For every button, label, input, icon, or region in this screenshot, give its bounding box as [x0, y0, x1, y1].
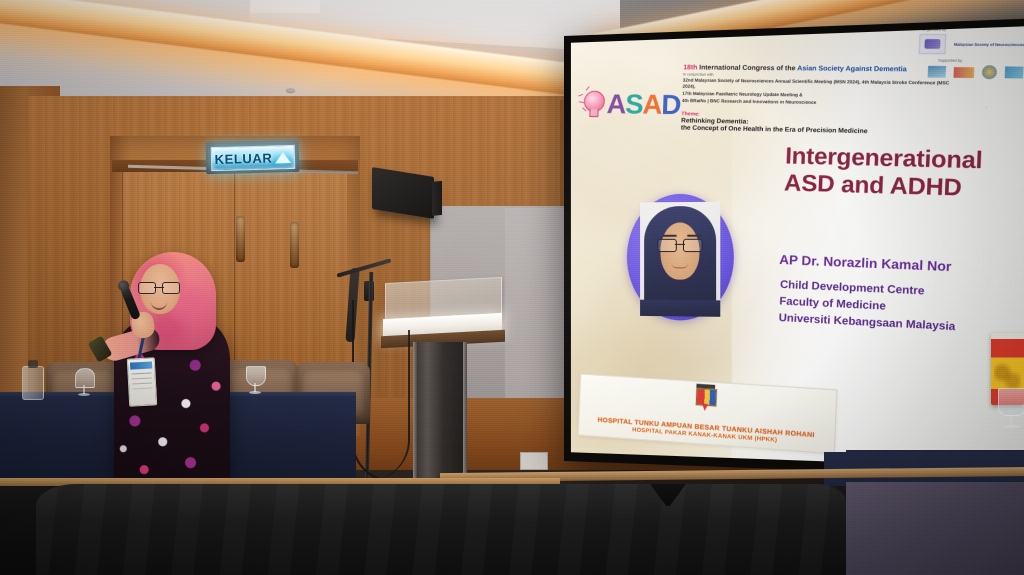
lectern-column-edge-right	[463, 342, 467, 480]
asad-letter-a1: A	[606, 88, 626, 118]
asad-wordmark: ASAD	[606, 90, 681, 118]
stage-skirt-drape	[36, 484, 846, 575]
presentation-photo-scene: KELUAR ASAD 18th Internati	[0, 0, 1024, 575]
brain-lightbulb-icon	[581, 89, 606, 119]
congress-line: International Congress of the	[699, 64, 796, 72]
exit-sign-label: KELUAR	[214, 150, 272, 167]
presenter-name-badge	[127, 357, 157, 406]
msn-logo-icon	[919, 34, 947, 54]
supported-by-label: Supported by	[845, 58, 1024, 64]
projection-screen: ASAD 18th International Congress of the …	[564, 18, 1024, 479]
asad-letter-a2: A	[642, 89, 662, 120]
presenter	[96, 246, 246, 494]
supporter-row	[844, 64, 1024, 79]
speaker-portrait-photo	[640, 202, 720, 317]
mic-cable-secondary	[370, 330, 410, 480]
sponsor-strip: Organised by Malaysian Society of Neuros…	[844, 27, 1024, 79]
organiser-row: Malaysian Society of Neurosciences	[845, 34, 1024, 55]
presenter-glasses-icon	[138, 282, 180, 292]
slide-title: Intergenerational ASD and ADHD	[784, 143, 1024, 205]
lectern-column	[417, 342, 465, 480]
exit-arrow-icon	[275, 151, 291, 162]
tourism-malaysia-logo-icon	[928, 66, 946, 78]
wall-power-socket	[520, 452, 548, 470]
drinking-glass	[75, 368, 93, 398]
door-handle-right[interactable]	[290, 222, 299, 268]
ceiling-air-vent	[250, 0, 320, 13]
portrait-glasses-icon	[657, 239, 702, 250]
malaysia-truly-asia-logo-icon	[954, 67, 975, 78]
exit-sign: KELUAR	[211, 145, 296, 171]
asad-letter-d: D	[661, 89, 681, 120]
asad-logo: ASAD	[581, 89, 681, 121]
congress-edition: 18th	[683, 64, 697, 71]
floor-carpet	[846, 482, 1024, 575]
asad-letter-s: S	[625, 89, 643, 120]
wine-glass-inverted	[998, 388, 1024, 432]
lectern-column-edge-left	[413, 342, 417, 480]
visit-malaysia-2026-logo-icon	[1005, 66, 1024, 78]
presentation-slide: ASAD 18th International Congress of the …	[571, 26, 1024, 468]
ministry-crest-logo-icon	[982, 65, 997, 79]
water-jug	[22, 366, 44, 400]
wine-glass-inverted	[246, 366, 264, 396]
hospital-crest-icon	[693, 384, 717, 412]
smoke-detector-icon	[286, 88, 295, 92]
organised-by-label: Organised by	[846, 27, 1024, 32]
speaker-portrait-ring	[627, 193, 734, 321]
organiser-name: Malaysian Society of Neurosciences	[954, 42, 1024, 47]
